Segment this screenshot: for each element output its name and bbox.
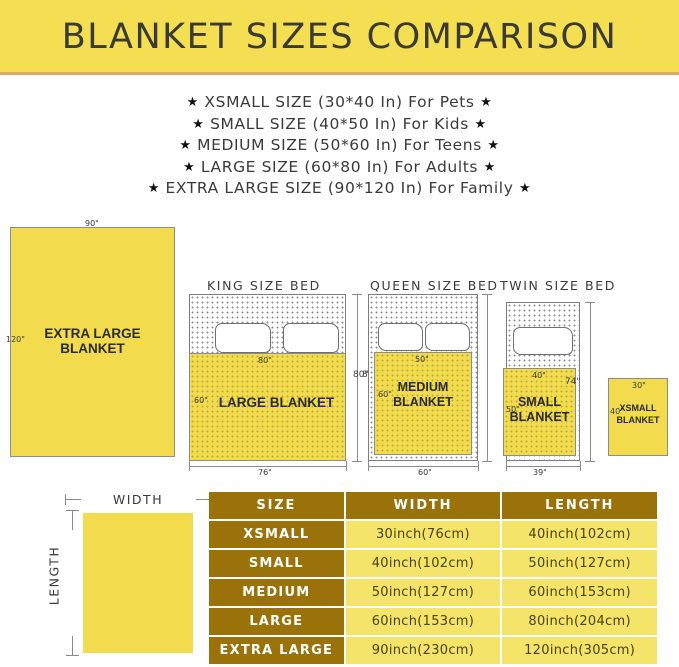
key-length-tick-bottom bbox=[66, 655, 79, 656]
table-row: SMALL 40inch(102cm) 50inch(127cm) bbox=[209, 550, 657, 577]
label-line-2: BLANKET bbox=[60, 341, 125, 356]
bullet-text: EXTRA LARGE SIZE (90*120 In) For Family bbox=[166, 179, 514, 197]
page-title: BLANKET SIZES COMPARISON bbox=[0, 17, 679, 57]
bullet-item-xsmall: ★ XSMALL SIZE (30*40 In) For Pets ★ bbox=[0, 92, 679, 114]
bullet-item-medium: ★ MEDIUM SIZE (50*60 In) For Teens ★ bbox=[0, 135, 679, 157]
table-row: XSMALL 30inch(76cm) 40inch(102cm) bbox=[209, 521, 657, 548]
key-width-guide-left bbox=[65, 499, 81, 500]
king-length-tick-top bbox=[352, 294, 362, 295]
king-bed-title: KING SIZE BED bbox=[207, 278, 321, 293]
small-blanket-label: SMALL BLANKET bbox=[503, 395, 576, 425]
extra-large-width-dim: 90" bbox=[85, 219, 99, 228]
xsmall-width-dim: 30" bbox=[632, 381, 646, 390]
cell-size: EXTRA LARGE bbox=[209, 637, 344, 664]
star-icon: ★ bbox=[192, 117, 204, 132]
cell-width: 90inch(230cm) bbox=[346, 637, 501, 664]
star-icon: ★ bbox=[187, 95, 199, 110]
queen-width-guide bbox=[368, 466, 478, 467]
label-line-1: EXTRA LARGE bbox=[44, 326, 140, 341]
size-diagram: 90" 120" EXTRA LARGE BLANKET KING SIZE B… bbox=[0, 210, 679, 480]
king-width-tick-right bbox=[346, 461, 347, 471]
bullet-item-large: ★ LARGE SIZE (60*80 In) For Adults ★ bbox=[0, 157, 679, 179]
title-banner: BLANKET SIZES COMPARISON bbox=[0, 0, 679, 75]
cell-width: 30inch(76cm) bbox=[346, 521, 501, 548]
star-icon: ★ bbox=[183, 160, 195, 175]
star-icon: ★ bbox=[484, 160, 496, 175]
key-width-tick-left bbox=[65, 494, 66, 505]
key-length-tick-top bbox=[66, 510, 79, 511]
queen-length-tick-bottom bbox=[482, 461, 492, 462]
cell-length: 40inch(102cm) bbox=[502, 521, 657, 548]
twin-pillow bbox=[513, 327, 573, 355]
key-length-guide-bottom bbox=[72, 636, 73, 656]
queen-bed-width-dim: 60" bbox=[418, 468, 432, 477]
column-header-width: WIDTH bbox=[346, 492, 501, 519]
star-icon: ★ bbox=[519, 181, 531, 196]
twin-width-tick-right bbox=[580, 461, 581, 471]
width-length-key: WIDTH LENGTH bbox=[20, 490, 205, 662]
extra-large-blanket-label: EXTRA LARGE BLANKET bbox=[10, 326, 175, 356]
column-header-length: LENGTH bbox=[502, 492, 657, 519]
label-line-1: XSMALL bbox=[620, 403, 657, 413]
label-line-2: BLANKET bbox=[510, 410, 570, 424]
twin-length-guide bbox=[590, 302, 591, 461]
cell-length: 60inch(153cm) bbox=[502, 579, 657, 606]
twin-bed-width-dim: 39" bbox=[533, 468, 547, 477]
size-chart-table: SIZE WIDTH LENGTH XSMALL 30inch(76cm) 40… bbox=[207, 490, 659, 666]
size-bullet-list: ★ XSMALL SIZE (30*40 In) For Pets ★ ★ SM… bbox=[0, 92, 679, 200]
key-width-label: WIDTH bbox=[83, 492, 193, 507]
infographic-page: BLANKET SIZES COMPARISON ★ XSMALL SIZE (… bbox=[0, 0, 679, 667]
twin-blanket-width-dim: 40" bbox=[532, 371, 546, 380]
label-line-2: BLANKET bbox=[393, 395, 453, 409]
bullet-item-extra-large: ★ EXTRA LARGE SIZE (90*120 In) For Famil… bbox=[0, 178, 679, 200]
king-pillow-left bbox=[215, 323, 271, 353]
queen-width-tick-left bbox=[368, 461, 369, 471]
bullet-item-small: ★ SMALL SIZE (40*50 In) For Kids ★ bbox=[0, 114, 679, 136]
cell-width: 50inch(127cm) bbox=[346, 579, 501, 606]
twin-width-tick-left bbox=[506, 461, 507, 471]
king-blanket-width-dim: 80" bbox=[258, 356, 272, 365]
twin-length-tick-top bbox=[585, 302, 595, 303]
king-width-tick-left bbox=[189, 461, 190, 471]
queen-pillow-right bbox=[425, 323, 470, 351]
cell-size: MEDIUM bbox=[209, 579, 344, 606]
twin-width-guide bbox=[506, 466, 580, 467]
queen-pillow-left bbox=[378, 323, 423, 351]
key-length-label: LENGTH bbox=[47, 521, 62, 631]
star-icon: ★ bbox=[179, 138, 191, 153]
table-row: EXTRA LARGE 90inch(230cm) 120inch(305cm) bbox=[209, 637, 657, 664]
king-bed-width-dim: 76" bbox=[258, 468, 272, 477]
bullet-text: MEDIUM SIZE (50*60 In) For Teens bbox=[197, 136, 482, 154]
cell-size: XSMALL bbox=[209, 521, 344, 548]
key-length-guide-top bbox=[72, 510, 73, 530]
king-pillow-right bbox=[283, 323, 339, 353]
queen-width-tick-right bbox=[478, 461, 479, 471]
queen-length-guide bbox=[487, 294, 488, 461]
label-line-1: MEDIUM bbox=[398, 380, 449, 394]
cell-length: 120inch(305cm) bbox=[502, 637, 657, 664]
key-blanket-shape bbox=[83, 513, 193, 653]
label-line-1: SMALL bbox=[518, 395, 561, 409]
table-header-row: SIZE WIDTH LENGTH bbox=[209, 492, 657, 519]
queen-length-tick-top bbox=[482, 294, 492, 295]
twin-bed-title: TWIN SIZE BED bbox=[500, 278, 616, 293]
large-blanket-label: LARGE BLANKET bbox=[207, 395, 346, 410]
cell-size: LARGE bbox=[209, 608, 344, 635]
king-width-guide bbox=[189, 466, 346, 467]
queen-blanket-width-dim: 50" bbox=[415, 355, 429, 364]
twin-bed-length-dim: 74" bbox=[565, 377, 581, 387]
king-blanket-length-dim: 60" bbox=[194, 396, 208, 405]
table-row: MEDIUM 50inch(127cm) 60inch(153cm) bbox=[209, 579, 657, 606]
cell-width: 40inch(102cm) bbox=[346, 550, 501, 577]
cell-length: 50inch(127cm) bbox=[502, 550, 657, 577]
star-icon: ★ bbox=[480, 95, 492, 110]
bullet-text: LARGE SIZE (60*80 In) For Adults bbox=[201, 158, 478, 176]
king-length-tick-bottom bbox=[352, 461, 362, 462]
bullet-text: SMALL SIZE (40*50 In) For Kids bbox=[210, 115, 469, 133]
queen-bed-length-dim: 80" bbox=[353, 370, 369, 380]
medium-blanket-label: MEDIUM BLANKET bbox=[374, 380, 472, 410]
table-row: LARGE 60inch(153cm) 80inch(204cm) bbox=[209, 608, 657, 635]
cell-length: 80inch(204cm) bbox=[502, 608, 657, 635]
label-line-2: BLANKET bbox=[617, 415, 660, 425]
star-icon: ★ bbox=[487, 138, 499, 153]
xsmall-blanket-label: XSMALL BLANKET bbox=[608, 402, 668, 426]
bullet-text: XSMALL SIZE (30*40 In) For Pets bbox=[204, 93, 474, 111]
cell-size: SMALL bbox=[209, 550, 344, 577]
queen-bed-title: QUEEN SIZE BED bbox=[370, 278, 499, 293]
twin-length-tick-bottom bbox=[585, 461, 595, 462]
star-icon: ★ bbox=[148, 181, 160, 196]
column-header-size: SIZE bbox=[209, 492, 344, 519]
star-icon: ★ bbox=[474, 117, 486, 132]
cell-width: 60inch(153cm) bbox=[346, 608, 501, 635]
